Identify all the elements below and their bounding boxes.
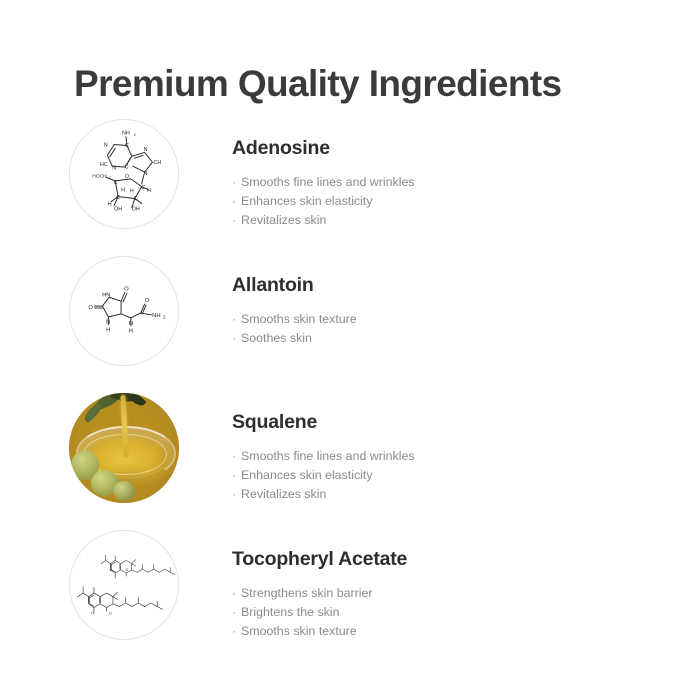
svg-text:H: H — [147, 188, 151, 194]
svg-text:2: 2 — [109, 176, 111, 180]
ingredient-name: Tocopheryl Acetate — [232, 548, 659, 571]
tocopheryl-acetate-molecule-icon: O O O O — [69, 530, 179, 640]
ingredient-row-tocopheryl-acetate: O O O O Tocopheryl Acetate ·Strengthens … — [0, 530, 679, 667]
svg-text:C: C — [134, 196, 138, 202]
svg-text:NH: NH — [152, 313, 161, 319]
benefit-item: ·Revitalizes skin — [232, 485, 659, 504]
benefit-text: Revitalizes skin — [241, 213, 326, 227]
svg-text:H: H — [106, 328, 110, 334]
svg-text:H: H — [108, 201, 112, 207]
benefit-text: Smooths fine lines and wrinkles — [241, 175, 415, 189]
svg-text:C: C — [125, 165, 129, 171]
bullet-icon: · — [232, 622, 241, 641]
benefit-text: Smooths fine lines and wrinkles — [241, 449, 415, 463]
bullet-icon: · — [232, 192, 241, 211]
svg-text:O: O — [126, 568, 129, 572]
benefit-text: Enhances skin elasticity — [241, 468, 373, 482]
svg-text:C: C — [125, 143, 129, 149]
ingredient-text-squalene: Squalene ·Smooths fine lines and wrinkle… — [232, 411, 659, 504]
ingredient-row-squalene: Squalene ·Smooths fine lines and wrinkle… — [0, 393, 679, 530]
bullet-icon: · — [232, 310, 241, 329]
bullet-icon: · — [232, 466, 241, 485]
svg-text:HN: HN — [102, 292, 111, 298]
benefit-text: Soothes skin — [241, 331, 312, 345]
bullet-icon: · — [232, 603, 241, 622]
svg-text:OH: OH — [114, 206, 122, 212]
svg-text:H: H — [130, 189, 134, 195]
benefit-text: Revitalizes skin — [241, 487, 326, 501]
svg-text:OH: OH — [132, 206, 140, 212]
benefit-item: ·Strengthens skin barrier — [232, 584, 659, 603]
ingredient-name: Adenosine — [232, 137, 659, 160]
benefit-list: ·Smooths fine lines and wrinkles ·Enhanc… — [232, 447, 659, 504]
bullet-icon: · — [232, 485, 241, 504]
svg-text:O: O — [124, 286, 129, 292]
benefit-list: ·Smooths skin texture ·Soothes skin — [232, 310, 659, 348]
svg-text:N: N — [112, 166, 116, 172]
svg-text:C: C — [141, 185, 145, 191]
bullet-icon: · — [232, 211, 241, 230]
svg-text:O: O — [91, 611, 94, 615]
benefit-item: ·Smooths fine lines and wrinkles — [232, 173, 659, 192]
ingredient-name: Squalene — [232, 411, 659, 434]
svg-text:O: O — [125, 174, 129, 180]
benefit-item: ·Enhances skin elasticity — [232, 192, 659, 211]
svg-text:2: 2 — [134, 133, 136, 137]
benefit-list: ·Strengthens skin barrier ·Brightens the… — [232, 584, 659, 641]
allantoin-molecule-icon: HN O O N H O N H NH 2 — [69, 256, 179, 366]
svg-text:C: C — [114, 180, 118, 186]
benefit-text: Strengthens skin barrier — [241, 586, 373, 600]
ingredient-text-adenosine: Adenosine ·Smooths fine lines and wrinkl… — [232, 137, 659, 230]
ingredient-list: NH 2 C N HC N C N CH N HOCH 2 O C — [0, 119, 679, 667]
svg-text:CH: CH — [154, 160, 162, 166]
bullet-icon: · — [232, 173, 241, 192]
svg-text:2: 2 — [163, 314, 166, 319]
photo-vignette — [69, 393, 179, 503]
svg-text:C: C — [116, 195, 120, 201]
benefit-text: Smooths skin texture — [241, 624, 357, 638]
ingredient-name: Allantoin — [232, 274, 659, 297]
svg-text:NH: NH — [122, 131, 130, 137]
bullet-icon: · — [232, 447, 241, 466]
svg-text:N: N — [104, 143, 108, 149]
benefit-item: ·Smooths skin texture — [232, 622, 659, 641]
benefit-item: ·Smooths skin texture — [232, 310, 659, 329]
ingredient-row-adenosine: NH 2 C N HC N C N CH N HOCH 2 O C — [0, 119, 679, 256]
benefit-item: ·Revitalizes skin — [232, 211, 659, 230]
svg-text:N: N — [129, 321, 133, 327]
svg-text:O: O — [88, 305, 93, 311]
svg-text:H: H — [129, 329, 133, 335]
svg-text:N: N — [144, 147, 148, 153]
bullet-icon: · — [232, 329, 241, 348]
ingredient-row-allantoin: HN O O N H O N H NH 2 Allantoin — [0, 256, 679, 393]
benefit-item: ·Soothes skin — [232, 329, 659, 348]
svg-text:N: N — [144, 171, 148, 177]
svg-text:H: H — [121, 188, 125, 194]
olive-oil-photo — [69, 393, 179, 503]
benefit-list: ·Smooths fine lines and wrinkles ·Enhanc… — [232, 173, 659, 230]
svg-text:O: O — [109, 611, 112, 615]
page-title: Premium Quality Ingredients — [74, 63, 562, 105]
svg-text:HOCH: HOCH — [92, 173, 107, 179]
benefit-text: Smooths skin texture — [241, 312, 357, 326]
svg-text:O: O — [109, 568, 112, 572]
adenosine-molecule-icon: NH 2 C N HC N C N CH N HOCH 2 O C — [69, 119, 179, 229]
benefit-item: ·Brightens the skin — [232, 603, 659, 622]
olive-oil-image — [69, 393, 179, 503]
benefit-text: Enhances skin elasticity — [241, 194, 373, 208]
ingredients-page: Premium Quality Ingredients — [0, 0, 679, 679]
svg-text:O: O — [145, 298, 150, 304]
bullet-icon: · — [232, 584, 241, 603]
svg-text:HC: HC — [100, 162, 108, 168]
benefit-item: ·Enhances skin elasticity — [232, 466, 659, 485]
benefit-item: ·Smooths fine lines and wrinkles — [232, 447, 659, 466]
ingredient-text-allantoin: Allantoin ·Smooths skin texture ·Soothes… — [232, 274, 659, 348]
svg-text:N: N — [106, 320, 110, 326]
benefit-text: Brightens the skin — [241, 605, 340, 619]
ingredient-text-tocopheryl-acetate: Tocopheryl Acetate ·Strengthens skin bar… — [232, 548, 659, 641]
